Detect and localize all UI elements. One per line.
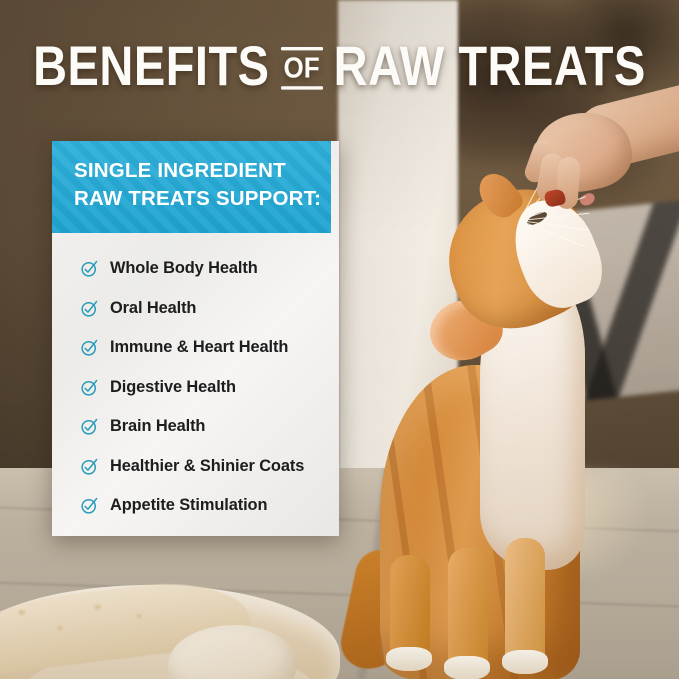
list-item: Brain Health	[80, 407, 339, 447]
benefits-card-header-line-1: SINGLE INGREDIENT	[74, 157, 331, 185]
list-item: Whole Body Health	[80, 249, 339, 289]
list-item-label: Appetite Stimulation	[110, 496, 267, 515]
check-circle-icon	[80, 378, 99, 397]
list-item: Oral Health	[80, 289, 339, 329]
list-item-label: Brain Health	[110, 417, 205, 436]
check-circle-icon	[80, 457, 99, 476]
benefits-card-header: SINGLE INGREDIENT RAW TREATS SUPPORT:	[52, 141, 331, 233]
cat-paw	[386, 647, 432, 671]
list-item: Healthier & Shinier Coats	[80, 447, 339, 487]
benefits-list: Whole Body Health Oral Health Immune & H…	[52, 233, 339, 526]
check-circle-icon	[80, 338, 99, 357]
list-item-label: Digestive Health	[110, 378, 236, 397]
benefits-card-header-line-2: RAW TREATS SUPPORT:	[74, 185, 331, 213]
list-item-label: Oral Health	[110, 299, 196, 318]
check-circle-icon	[80, 259, 99, 278]
list-item-label: Whole Body Health	[110, 259, 258, 278]
page-title-part-3: RAW TREATS	[334, 38, 646, 93]
page-title-part-1: BENEFITS	[33, 38, 269, 93]
list-item: Digestive Health	[80, 368, 339, 408]
list-item: Appetite Stimulation	[80, 486, 339, 526]
human-hand	[505, 95, 679, 235]
list-item: Immune & Heart Health	[80, 328, 339, 368]
page-title-part-2: OF	[282, 48, 322, 87]
cat-paw	[502, 650, 548, 674]
cat-paw	[444, 656, 490, 679]
check-circle-icon	[80, 496, 99, 515]
benefits-card: SINGLE INGREDIENT RAW TREATS SUPPORT: Wh…	[52, 141, 339, 536]
check-circle-icon	[80, 299, 99, 318]
list-item-label: Healthier & Shinier Coats	[110, 457, 304, 476]
page-title: BENEFITS OF RAW TREATS	[0, 42, 679, 89]
list-item-label: Immune & Heart Health	[110, 338, 288, 357]
check-circle-icon	[80, 417, 99, 436]
pet-bed	[0, 585, 340, 679]
